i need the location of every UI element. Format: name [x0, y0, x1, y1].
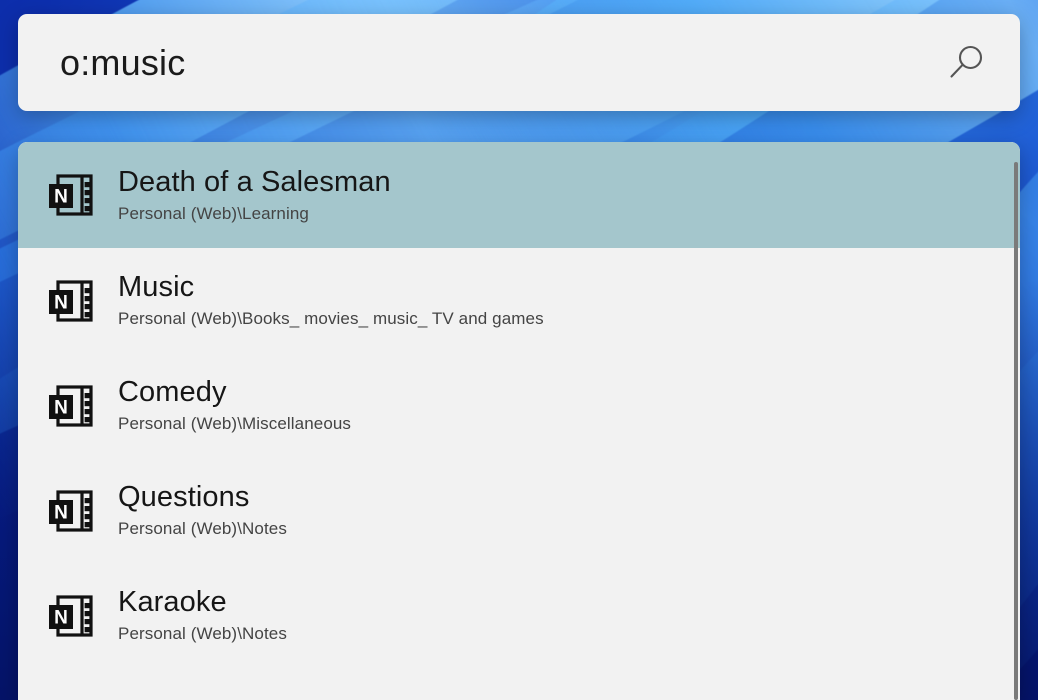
search-result-title: Music [118, 272, 544, 303]
search-results-panel: N Death of a Salesman Personal (Web)\Lea… [18, 142, 1020, 700]
onenote-icon: N [46, 488, 102, 534]
search-result-title: Death of a Salesman [118, 167, 391, 198]
search-result-text: Karaoke Personal (Web)\Notes [118, 587, 287, 644]
svg-text:N: N [54, 502, 68, 523]
search-results-list: N Death of a Salesman Personal (Web)\Lea… [18, 142, 1020, 668]
search-result-item-1[interactable]: N Music Personal (Web)\Books_ movies_ mu… [18, 248, 1020, 353]
search-input[interactable]: o:music [60, 45, 940, 81]
search-result-item-3[interactable]: N Questions Personal (Web)\Notes [18, 458, 1020, 563]
search-result-item-2[interactable]: N Comedy Personal (Web)\Miscellaneous [18, 353, 1020, 458]
search-result-subtitle: Personal (Web)\Books_ movies_ music_ TV … [118, 310, 544, 329]
search-result-subtitle: Personal (Web)\Notes [118, 520, 287, 539]
search-result-title: Questions [118, 482, 287, 513]
svg-text:N: N [54, 292, 68, 313]
search-result-title: Comedy [118, 377, 351, 408]
onenote-icon: N [46, 278, 102, 324]
search-result-subtitle: Personal (Web)\Notes [118, 625, 287, 644]
search-result-item-4[interactable]: N Karaoke Personal (Web)\Notes [18, 563, 1020, 668]
search-result-text: Comedy Personal (Web)\Miscellaneous [118, 377, 351, 434]
svg-text:N: N [54, 187, 68, 208]
results-scrollbar[interactable] [1014, 162, 1018, 700]
search-result-title: Karaoke [118, 587, 287, 618]
search-result-item-0[interactable]: N Death of a Salesman Personal (Web)\Lea… [18, 142, 1020, 248]
svg-text:N: N [54, 397, 68, 418]
search-result-text: Music Personal (Web)\Books_ movies_ musi… [118, 272, 544, 329]
search-result-text: Death of a Salesman Personal (Web)\Learn… [118, 167, 391, 224]
search-icon[interactable] [940, 37, 992, 89]
search-bar[interactable]: o:music [18, 14, 1020, 111]
search-result-text: Questions Personal (Web)\Notes [118, 482, 287, 539]
svg-text:N: N [54, 607, 68, 628]
onenote-icon: N [46, 383, 102, 429]
search-result-subtitle: Personal (Web)\Learning [118, 205, 391, 224]
search-result-subtitle: Personal (Web)\Miscellaneous [118, 415, 351, 434]
onenote-icon: N [46, 172, 102, 218]
onenote-icon: N [46, 593, 102, 639]
